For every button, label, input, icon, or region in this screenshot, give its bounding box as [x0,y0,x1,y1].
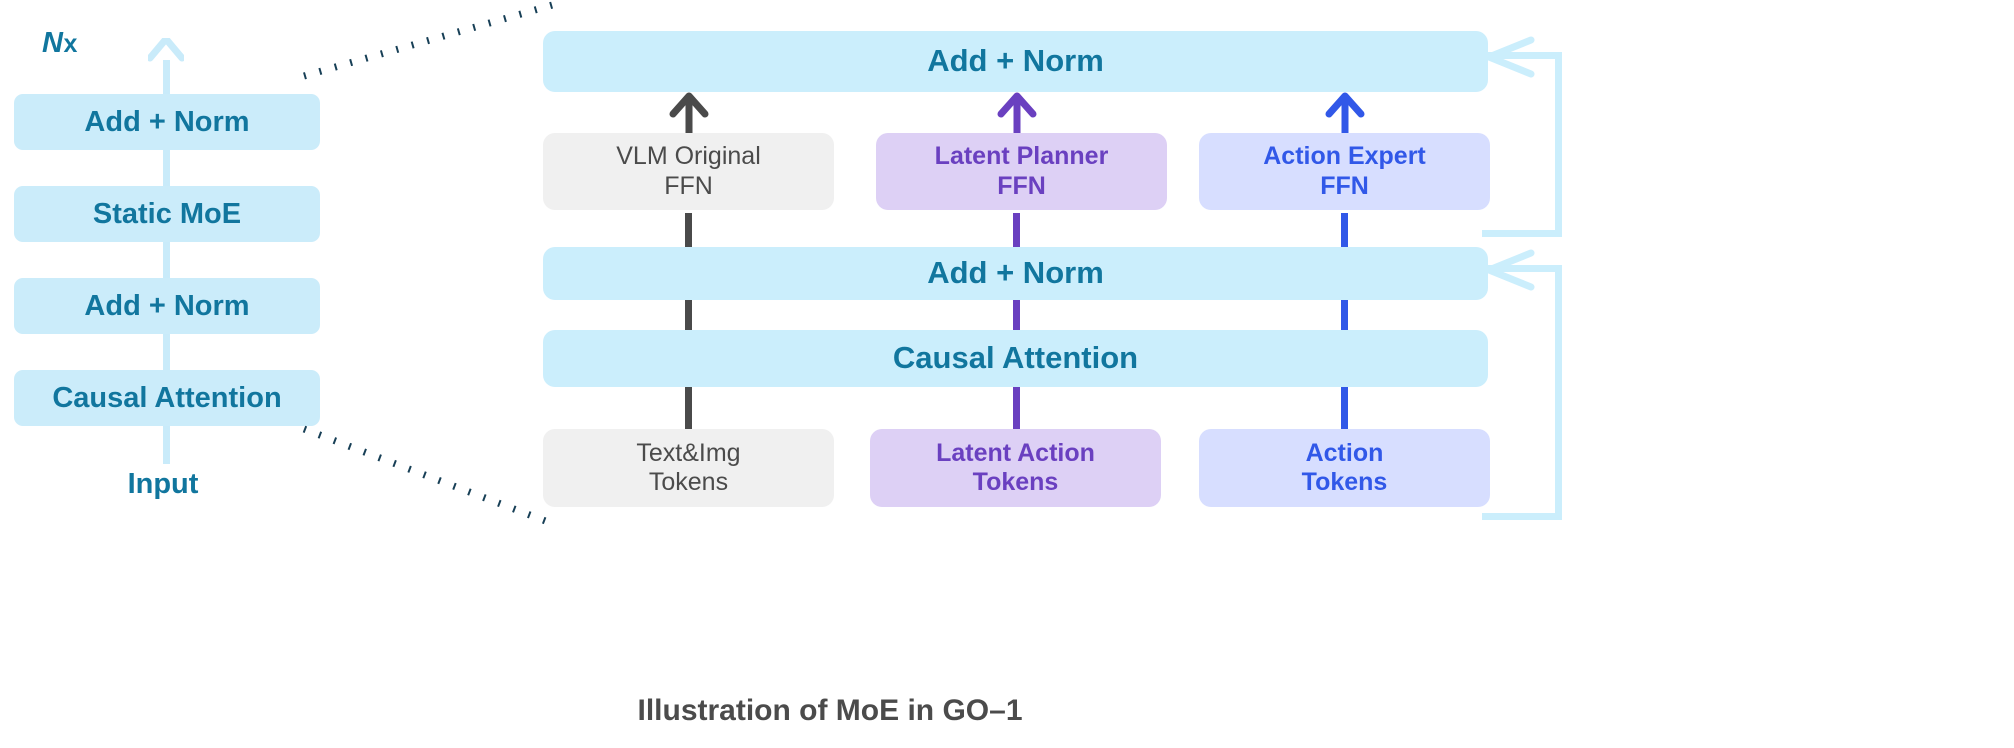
conn-action-attn-to-tokens [1341,387,1348,429]
right-bar-add-norm-top[interactable]: Add + Norm [543,31,1488,92]
attention-residual-arrow-icon [1483,249,1535,291]
input-label: Input [63,468,263,501]
left-block-causal-attention[interactable]: Causal Attention [14,370,320,426]
token-box-latent-action[interactable]: Latent Action Tokens [870,429,1161,507]
conn-vlm-addnorm-to-attn [685,300,692,330]
conn-vlm-attn-to-tokens [685,387,692,429]
up-arrow-icon [148,38,184,70]
action-expert-ffn-up-arrow-icon [1324,92,1366,134]
conn-latent-addnorm-to-attn [1013,300,1020,330]
right-bar-causal-attention[interactable]: Causal Attention [543,330,1488,387]
repeat-count-label: Nx [42,27,78,60]
ffn-box-action-expert[interactable]: Action Expert FFN [1199,133,1490,210]
dotted-zoom-connector-bottom [300,425,560,530]
vlm-ffn-up-arrow-icon [668,92,710,134]
latent-planner-ffn-up-arrow-icon [996,92,1038,134]
ffn-residual-arrow-icon [1483,36,1535,78]
conn-vlm-ffn-to-addnorm [685,213,692,251]
ffn-residual-skip [1482,52,1562,237]
left-block-add-norm-bottom[interactable]: Add + Norm [14,278,320,334]
ffn-box-vlm-original[interactable]: VLM Original FFN [543,133,834,210]
right-bar-add-norm-mid[interactable]: Add + Norm [543,247,1488,300]
figure-caption: Illustration of MoE in GO–1 [0,694,1660,728]
token-box-text-img[interactable]: Text&Img Tokens [543,429,834,507]
left-block-static-moe[interactable]: Static MoE [14,186,320,242]
token-box-action[interactable]: Action Tokens [1199,429,1490,507]
diagram-canvas: Nx Add + Norm Static MoE Add + Norm Caus… [0,0,2014,748]
attention-residual-skip [1482,265,1562,520]
ffn-box-latent-planner[interactable]: Latent Planner FFN [876,133,1167,210]
conn-action-ffn-to-addnorm [1341,213,1348,251]
conn-action-addnorm-to-attn [1341,300,1348,330]
left-block-add-norm-top[interactable]: Add + Norm [14,94,320,150]
dotted-zoom-connector-top [300,0,560,90]
conn-latent-ffn-to-addnorm [1013,213,1020,251]
conn-latent-attn-to-tokens [1013,387,1020,429]
